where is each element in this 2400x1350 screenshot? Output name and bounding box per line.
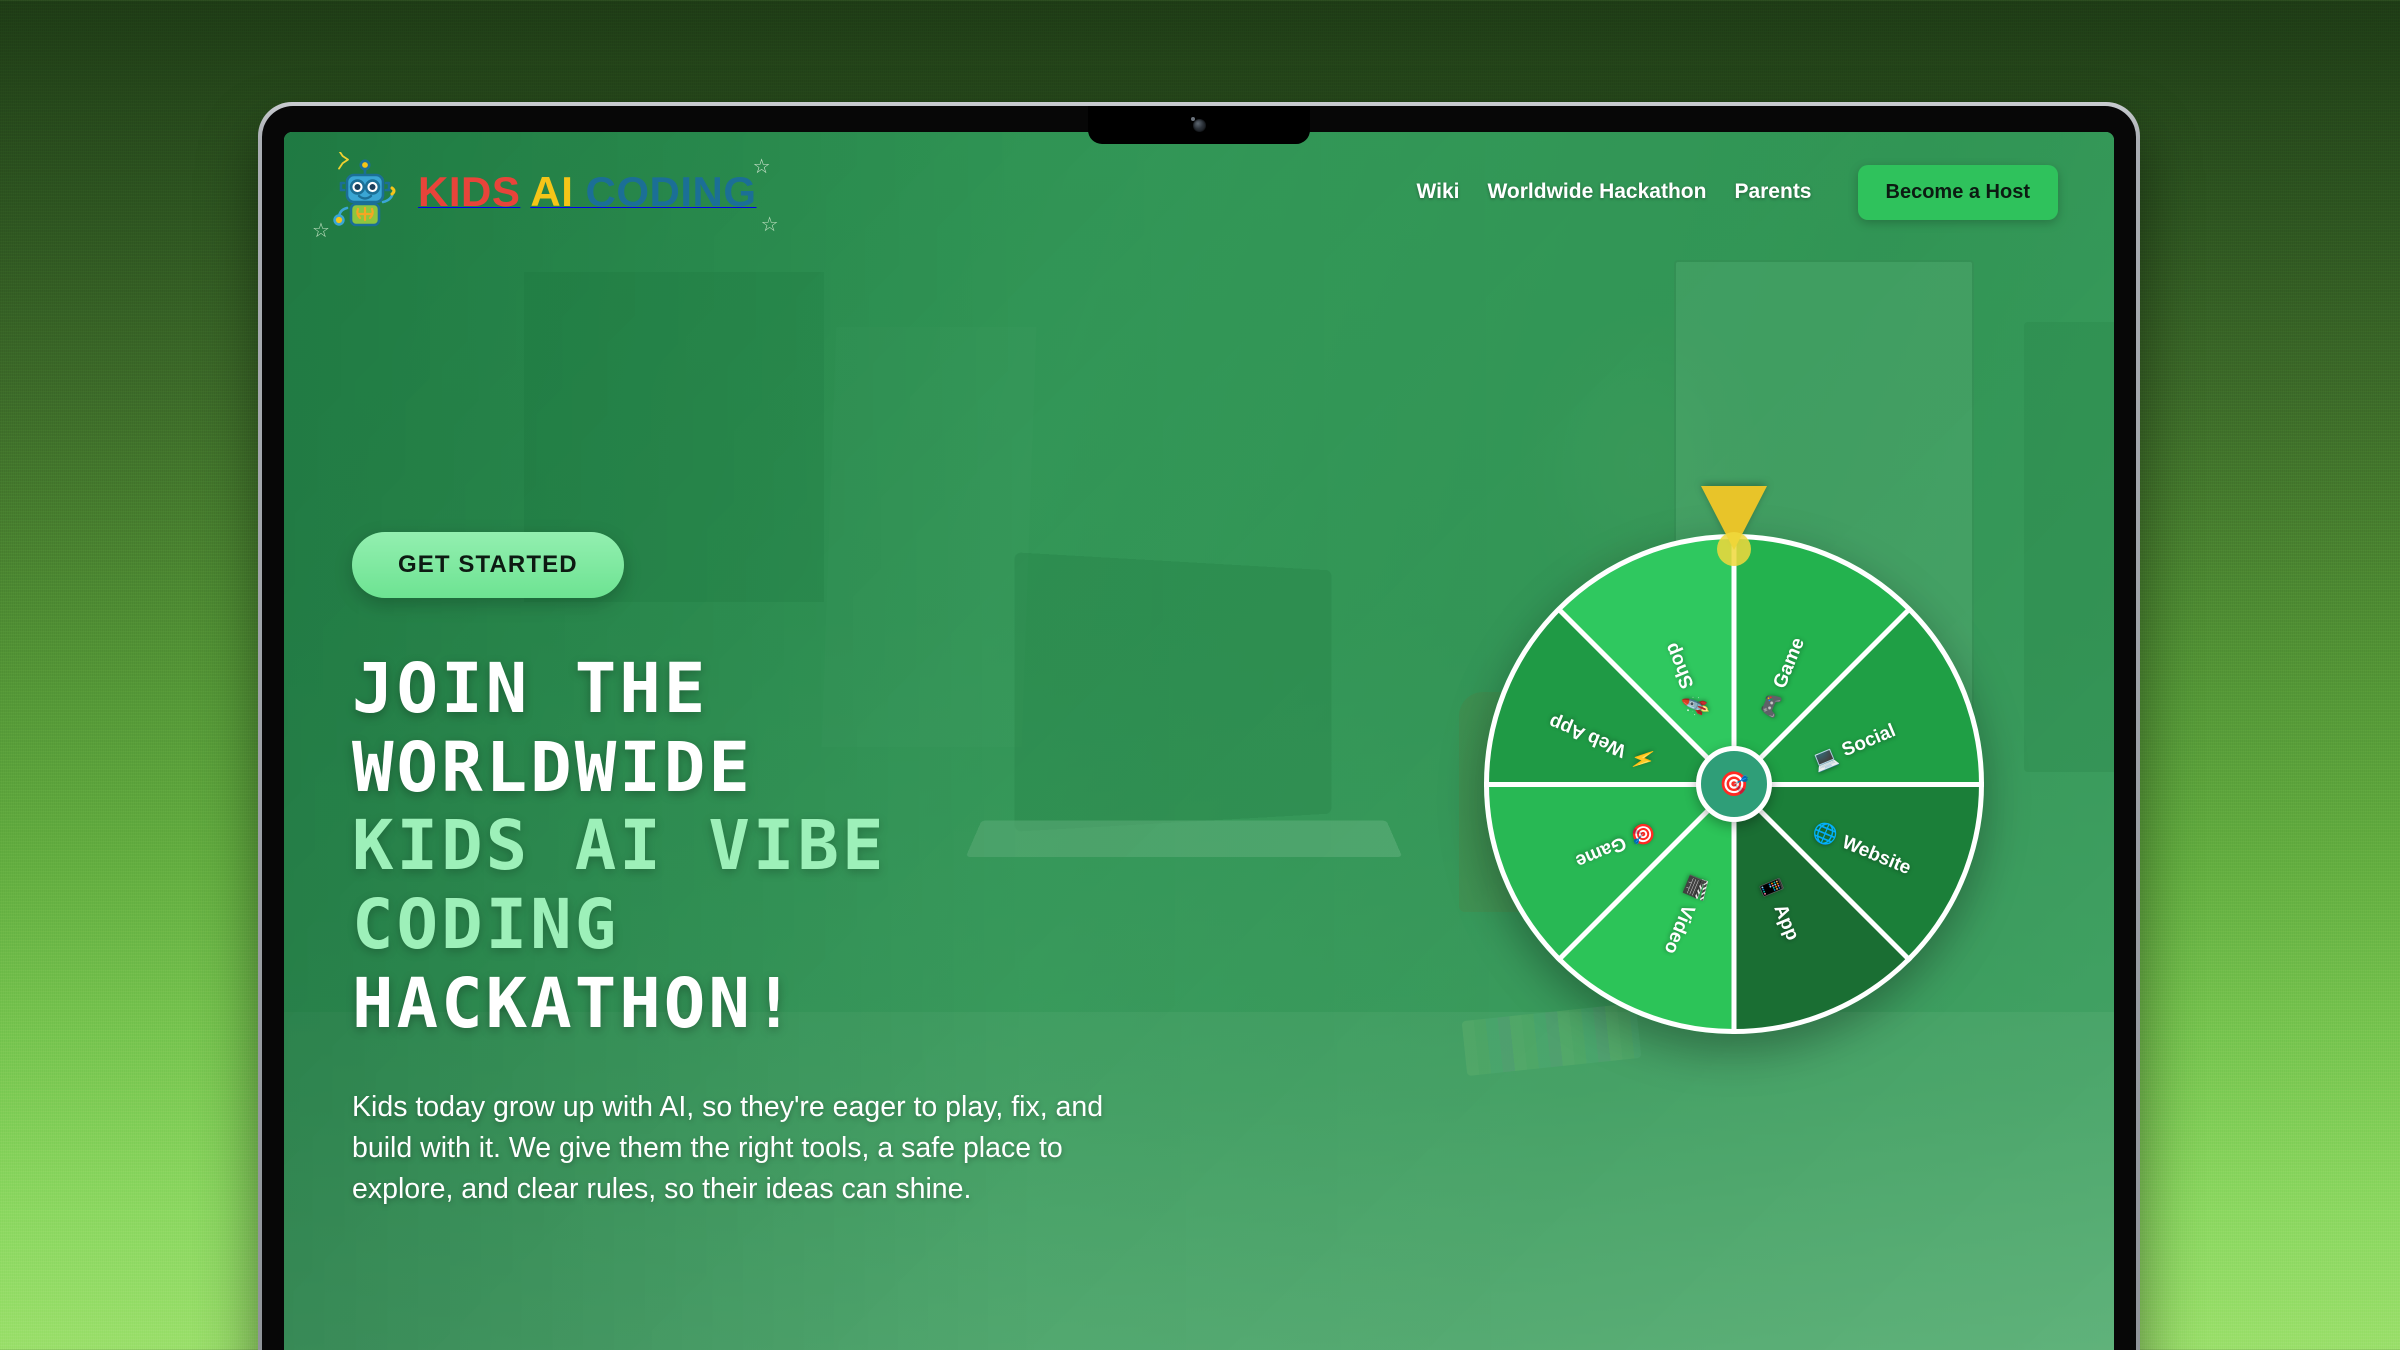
robot-mascot-icon bbox=[328, 152, 402, 233]
become-a-host-button[interactable]: Become a Host bbox=[1858, 165, 2059, 220]
webcam-glint bbox=[1191, 117, 1195, 121]
brand-logo[interactable]: KIDSAI CODING ☆ ☆ ☆ bbox=[328, 152, 757, 233]
star-sparkle-icon: ☆ bbox=[753, 154, 771, 179]
headline-line-2: KIDS AI VIBE bbox=[352, 807, 1302, 886]
webcam-icon bbox=[1193, 119, 1206, 132]
nav-wiki[interactable]: Wiki bbox=[1416, 180, 1459, 204]
headline-line-3: CODING bbox=[352, 886, 1302, 965]
star-sparkle-icon: ☆ bbox=[761, 212, 779, 237]
wheel-pointer-icon bbox=[1701, 486, 1767, 572]
main-navigation: Wiki Worldwide Hackathon Parents Become … bbox=[1416, 165, 2058, 220]
spin-wheel[interactable]: 🎮Game💻Social🌐Website📱App🎬Video🎯Game⚡Web … bbox=[1484, 490, 1984, 990]
hero-headline: JOIN THEWORLDWIDEKIDS AI VIBECODINGHACKA… bbox=[352, 650, 1302, 1043]
headline-line-4: HACKATHON! bbox=[352, 965, 1302, 1044]
laptop-bezel: KIDSAI CODING ☆ ☆ ☆ Wiki Worldwide Hacka… bbox=[262, 106, 2136, 1350]
brand-ai-text: AI bbox=[530, 168, 573, 215]
brand-coding-text: CODING bbox=[586, 168, 757, 215]
brand-kids-text: KIDS bbox=[418, 168, 520, 215]
star-sparkle-icon: ☆ bbox=[312, 218, 330, 243]
hero-paragraph: Kids today grow up with AI, so they're e… bbox=[352, 1087, 1152, 1210]
site-header: KIDSAI CODING ☆ ☆ ☆ Wiki Worldwide Hacka… bbox=[284, 132, 2114, 252]
browser-viewport: KIDSAI CODING ☆ ☆ ☆ Wiki Worldwide Hacka… bbox=[284, 132, 2114, 1350]
hero-content: GET STARTED JOIN THEWORLDWIDEKIDS AI VIB… bbox=[352, 532, 1302, 1210]
laptop-notch bbox=[1088, 106, 1310, 144]
nav-worldwide-hackathon[interactable]: Worldwide Hackathon bbox=[1487, 180, 1706, 204]
wheel-hub[interactable]: 🎯 bbox=[1696, 746, 1772, 822]
nav-parents[interactable]: Parents bbox=[1734, 180, 1811, 204]
laptop-mockup: KIDSAI CODING ☆ ☆ ☆ Wiki Worldwide Hacka… bbox=[258, 102, 2140, 1350]
get-started-button[interactable]: GET STARTED bbox=[352, 532, 624, 598]
hero-section: GET STARTED JOIN THEWORLDWIDEKIDS AI VIB… bbox=[284, 132, 2114, 1350]
headline-line-1: WORLDWIDE bbox=[352, 729, 1302, 808]
headline-line-0: JOIN THE bbox=[352, 650, 1302, 729]
